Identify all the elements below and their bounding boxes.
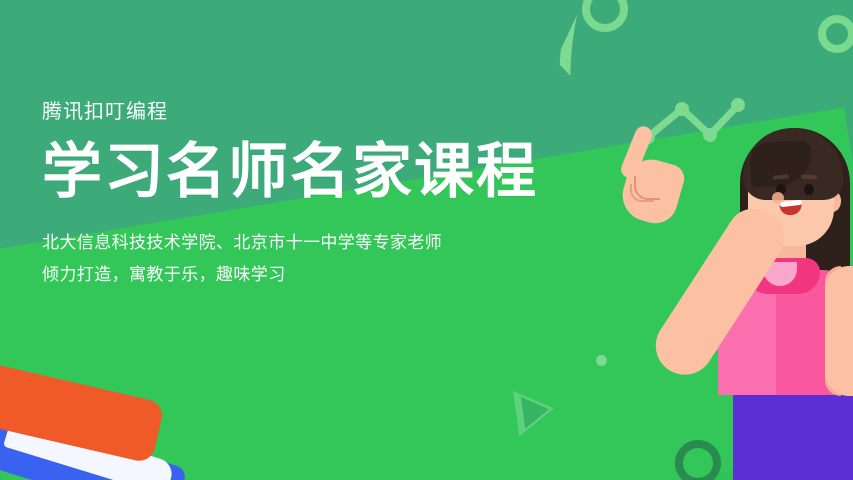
course-promo-banner: 腾讯扣叮编程 学习名师名家课程 北大信息科技技术学院、北京市十一中学等专家老师 … bbox=[0, 0, 853, 480]
brand-eyebrow: 腾讯扣叮编程 bbox=[42, 98, 582, 126]
stacked-books-icon bbox=[0, 345, 224, 480]
subcopy-line-2: 倾力打造，寓教于乐，趣味学习 bbox=[42, 259, 582, 290]
banner-copy: 腾讯扣叮编程 学习名师名家课程 北大信息科技技术学院、北京市十一中学等专家老师 … bbox=[42, 98, 582, 290]
page-title: 学习名师名家课程 bbox=[42, 138, 582, 205]
figure-right-arm bbox=[825, 266, 853, 396]
play-triangle-icon-inner bbox=[521, 393, 551, 428]
pointing-woman-illustration bbox=[600, 80, 853, 480]
figure-knuckle-line-2 bbox=[630, 184, 654, 202]
figure-skirt bbox=[733, 390, 853, 480]
banner-subcopy: 北大信息科技技术学院、北京市十一中学等专家老师 倾力打造，寓教于乐，趣味学习 bbox=[42, 227, 582, 290]
figure-eye-right bbox=[804, 184, 814, 195]
subcopy-line-1: 北大信息科技技术学院、北京市十一中学等专家老师 bbox=[42, 227, 582, 258]
